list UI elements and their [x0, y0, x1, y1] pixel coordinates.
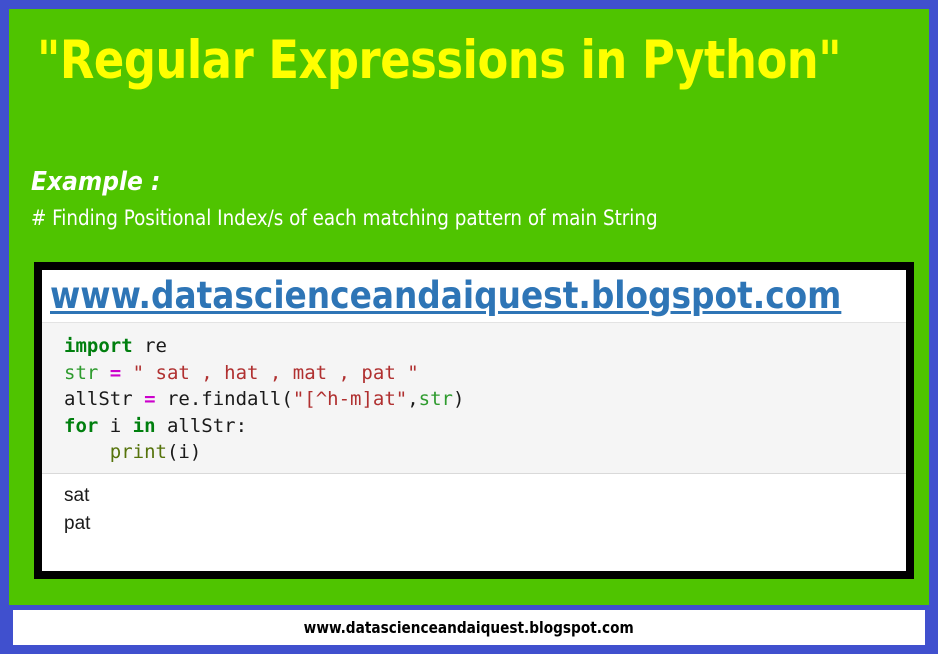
code-token-function: print: [110, 441, 167, 463]
slide-outer-frame: "Regular Expressions in Python" Example …: [0, 0, 938, 654]
output-line: sat: [64, 482, 906, 510]
code-token-plain: ): [453, 388, 464, 410]
code-card: www.datascienceandaiquest.blogspot.com i…: [34, 262, 914, 579]
code-token-keyword: for: [64, 415, 98, 437]
code-token-plain: allStr: [64, 388, 144, 410]
code-token-keyword: import: [64, 335, 133, 357]
page-title: "Regular Expressions in Python": [37, 31, 855, 91]
code-token-plain: re.findall(: [156, 388, 293, 410]
code-line: str = " sat , hat , mat , pat ": [64, 360, 906, 387]
code-token-string: "[^h-m]at": [293, 388, 407, 410]
example-label: Example :: [31, 167, 160, 197]
code-line: allStr = re.findall("[^h-m]at",str): [64, 386, 906, 413]
code-output-area: satpat: [42, 474, 906, 538]
code-line: import re: [64, 333, 906, 360]
code-card-url-header: www.datascienceandaiquest.blogspot.com: [42, 270, 906, 322]
footer-bar: www.datascienceandaiquest.blogspot.com: [13, 610, 925, 645]
example-comment: # Finding Positional Index/s of each mat…: [31, 205, 658, 231]
code-line: print(i): [64, 439, 906, 466]
code-token-builtin: str: [64, 362, 110, 384]
code-token-builtin: str: [419, 388, 453, 410]
code-line: for i in allStr:: [64, 413, 906, 440]
code-token-keyword: in: [133, 415, 156, 437]
code-token-plain: allStr:: [156, 415, 248, 437]
code-token-plain: re: [133, 335, 167, 357]
code-token-plain: i: [98, 415, 132, 437]
output-line: pat: [64, 510, 906, 538]
code-token-string: " sat , hat , mat , pat ": [121, 362, 418, 384]
code-token-plain: ,: [407, 388, 418, 410]
code-editor-area[interactable]: import restr = " sat , hat , mat , pat "…: [42, 322, 906, 474]
code-token-plain: (i): [167, 441, 201, 463]
footer-url-text: www.datascienceandaiquest.blogspot.com: [304, 619, 634, 637]
code-token-operator: =: [144, 388, 155, 410]
code-token-plain: [64, 441, 110, 463]
code-token-operator: =: [110, 362, 121, 384]
slide-body-panel: "Regular Expressions in Python" Example …: [9, 9, 929, 605]
blog-url-link[interactable]: www.datascienceandaiquest.blogspot.com: [50, 276, 841, 316]
